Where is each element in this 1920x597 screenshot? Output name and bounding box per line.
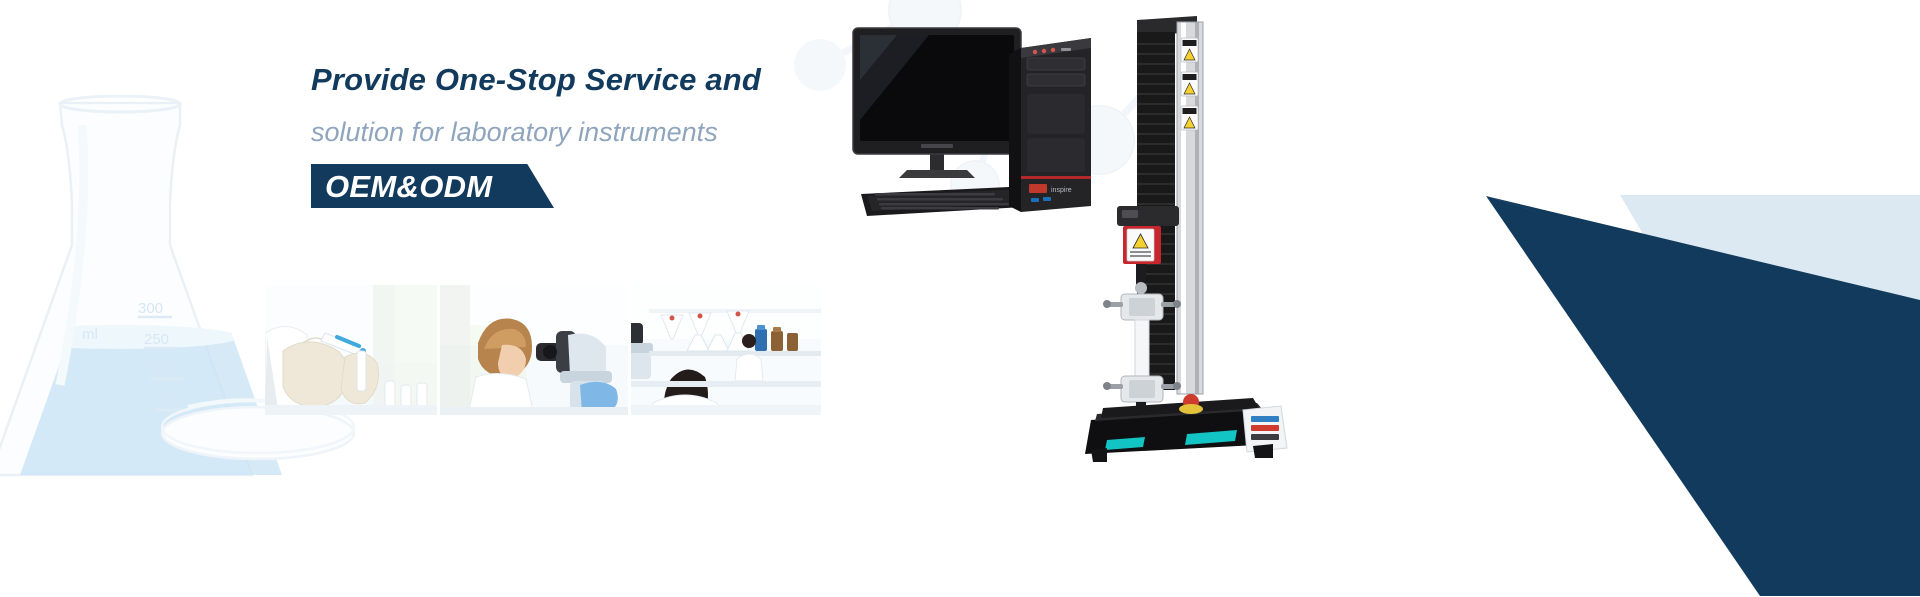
desktop-tower: inspire <box>1009 38 1091 212</box>
flask-graduations <box>138 317 190 410</box>
photo-pipette-gloves-art <box>265 285 437 415</box>
flask-highlight <box>60 125 84 385</box>
desktop-monitor <box>853 28 1021 178</box>
liquid-surface <box>3 325 239 349</box>
warning-labels <box>1181 38 1198 130</box>
oem-odm-badge: OEM&ODM <box>311 164 554 208</box>
flask-outline <box>0 103 252 475</box>
flask-rim <box>60 96 180 112</box>
light-blue-triangle <box>1620 195 1920 420</box>
test-specimen <box>1135 320 1149 376</box>
photo-strip <box>265 285 821 415</box>
svg-text:200: 200 <box>150 362 175 379</box>
hero-banner: 300 250 200 150 ml Provide One-Stop Serv… <box>0 0 1920 597</box>
navy-arrow-triangle <box>1486 196 1920 596</box>
svg-text:250: 250 <box>144 331 169 348</box>
universal-testing-machine <box>1085 16 1287 462</box>
oem-odm-badge-label: OEM&ODM <box>325 165 492 209</box>
photo-pipette-gloves <box>265 285 437 415</box>
photo-microscope <box>440 285 628 415</box>
photo-lab-shelves <box>631 285 821 415</box>
svg-text:150: 150 <box>156 393 181 410</box>
flask-liquid <box>0 335 300 495</box>
photo-microscope-art <box>440 285 628 415</box>
product-cluster-art: inspire <box>845 10 1315 470</box>
svg-text:ml: ml <box>82 326 98 343</box>
machine-base <box>1085 394 1287 462</box>
product-cluster: inspire <box>845 10 1315 470</box>
svg-text:300: 300 <box>138 300 163 317</box>
photo-lab-shelves-art <box>631 285 821 415</box>
svg-text:inspire: inspire <box>1051 187 1072 194</box>
navy-arrow-triangle-upper <box>1486 196 1920 332</box>
flask-graduation-labels: 300 250 200 150 ml <box>82 300 181 410</box>
light-blue-triangle-upper <box>1623 196 1920 300</box>
